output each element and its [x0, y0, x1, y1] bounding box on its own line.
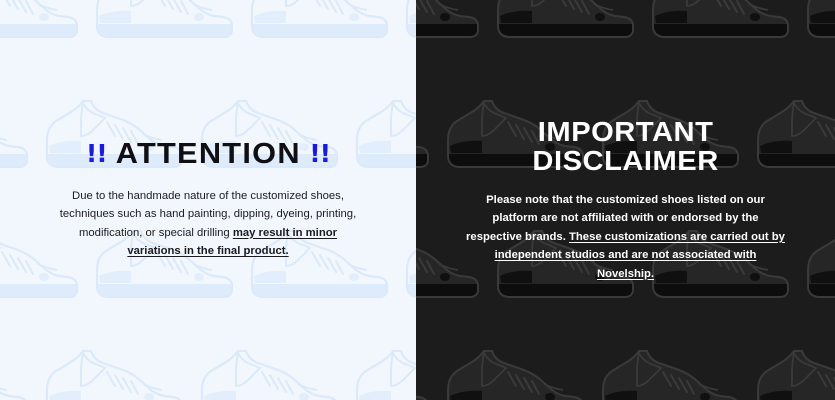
attention-body: Due to the handmade nature of the custom…	[58, 187, 358, 261]
disclaimer-panel: IMPORTANT DISCLAIMER Please note that th…	[416, 0, 835, 400]
disclaimer-body: Please note that the customized shoes li…	[466, 191, 786, 284]
attention-panel: !! ATTENTION !! Due to the handmade natu…	[0, 0, 416, 400]
exclamation-right-icon: !!	[309, 141, 330, 166]
attention-heading: !! ATTENTION !!	[86, 140, 330, 169]
disclaimer-heading-line-2: DISCLAIMER	[532, 146, 718, 175]
attention-content: !! ATTENTION !! Due to the handmade natu…	[0, 0, 416, 400]
attention-title: ATTENTION	[115, 140, 300, 169]
exclamation-left-icon: !!	[86, 141, 107, 166]
disclaimer-heading-line-1: IMPORTANT	[532, 117, 718, 146]
disclaimer-content: IMPORTANT DISCLAIMER Please note that th…	[416, 0, 835, 400]
disclaimer-banner: !! ATTENTION !! Due to the handmade natu…	[0, 0, 835, 400]
disclaimer-heading: IMPORTANT DISCLAIMER	[532, 117, 718, 175]
